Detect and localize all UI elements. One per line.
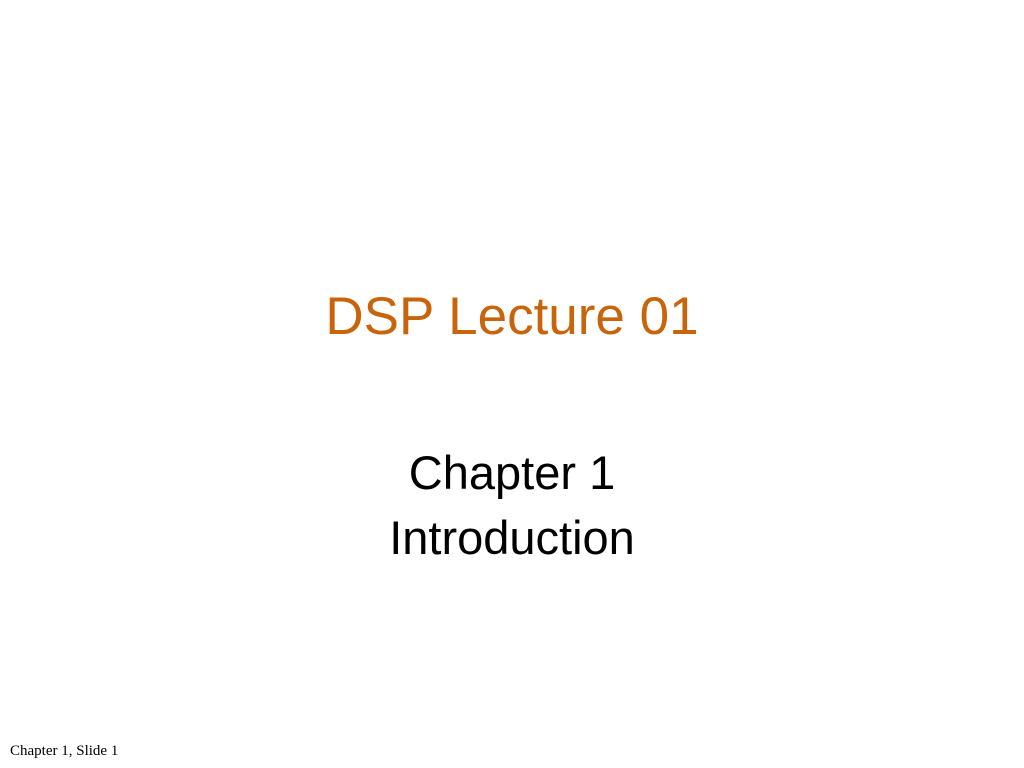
title-placeholder: DSP Lecture 01 <box>0 288 1024 346</box>
slide-footer: Chapter 1, Slide 1 <box>10 742 410 760</box>
body-placeholder: Chapter 1 Introduction <box>0 440 1024 570</box>
slide-title: DSP Lecture 01 <box>0 288 1024 346</box>
presentation-slide: DSP Lecture 01 Chapter 1 Introduction Ch… <box>0 0 1024 768</box>
body-line-introduction: Introduction <box>0 505 1024 570</box>
footer-text: Chapter 1, Slide 1 <box>10 742 118 760</box>
body-line-chapter: Chapter 1 <box>0 440 1024 505</box>
